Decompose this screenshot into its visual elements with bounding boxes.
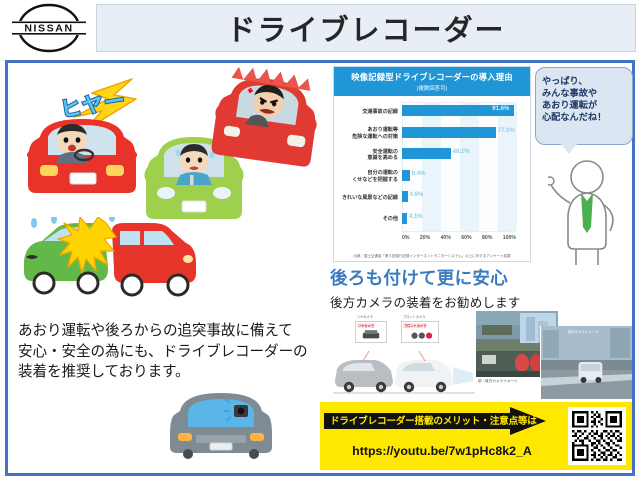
camera-mounting-diagram: リヤカメラ リヤカメラ フロントカメラ フロントカメラ xyxy=(333,311,475,399)
bar-label: 自分の運転の くせなどを把握する xyxy=(340,170,402,183)
qr-code[interactable] xyxy=(568,407,626,465)
red-car-surprised-driver xyxy=(26,111,138,201)
businessman-pointing-icon xyxy=(548,155,626,267)
front-camera-callout: フロントカメラ xyxy=(401,321,439,343)
bar-label: その他 xyxy=(340,216,402,222)
sub-heading-group: 後ろも付けて更に安心 後方カメラの装着をお勧めします xyxy=(330,265,630,311)
svg-text:NISSAN: NISSAN xyxy=(24,23,73,35)
chart-bar-row: あおり運転等 危険な運転への対策 77.0% xyxy=(340,124,524,144)
speech-bubble: やっぱり、 みんな事故や あおり運転が 心配なんだね！ xyxy=(535,67,633,145)
chart-title: 映像記録型ドライブレコーダーの導入理由 xyxy=(351,71,512,83)
illustration-group: ヒヤー xyxy=(14,65,332,315)
front-camera-photo-caption: 前・後方カメライメージ xyxy=(478,379,517,384)
rear-camera-photo xyxy=(540,326,632,399)
rear-camera-label: リヤカメラ xyxy=(357,314,373,319)
title-bar: ドライブレコーダー xyxy=(96,4,636,52)
chart-card: 映像記録型ドライブレコーダーの導入理由 (複数回答可) 交通事故の記録 91.6… xyxy=(333,66,531,262)
x-tick: 80% xyxy=(482,235,492,241)
main-panel: ヒヤー xyxy=(5,60,635,476)
rear-camera-tag: リヤカメラ xyxy=(357,323,375,328)
rear-camera-callout: リヤカメラ xyxy=(355,321,387,343)
sub-heading-main: 後ろも付けて更に安心 xyxy=(330,265,630,290)
x-tick: 20% xyxy=(420,235,430,241)
chart-bar-row: 安全運転の 意識を高める 40.1% xyxy=(340,145,524,165)
chart-x-axis: 0% 20% 40% 60% 80% 100% xyxy=(402,235,516,241)
youtube-banner[interactable]: ドライブレコーダー搭載のメリット・注意点等は https://youtu.be/… xyxy=(320,402,632,470)
red-car-angry-tailgater xyxy=(208,62,325,176)
bar-label: 安全運転の 意識を高める xyxy=(340,149,402,162)
chart-bar-row: 交通事故の記録 91.6% xyxy=(340,102,524,122)
speech-bubble-tail xyxy=(560,143,578,154)
bar-value: 4.1% xyxy=(409,214,423,220)
bar-label: きれいな風景などの記録 xyxy=(340,195,402,201)
chart-bar-row: きれいな風景などの記録 4.6% xyxy=(340,188,524,208)
footer-strip xyxy=(0,476,640,480)
car-with-dashcam-icon xyxy=(168,385,274,459)
chart-header: 映像記録型ドライブレコーダーの導入理由 (複数回答可) xyxy=(334,67,530,96)
nissan-logo: NISSAN xyxy=(8,3,90,53)
body-paragraph: あおり運転や後ろからの追突事故に備えて 安心・安全の為にも、ドライブレコーダーの… xyxy=(18,321,333,383)
rear-camera-photo-caption: 後方カメライメージ xyxy=(568,329,598,334)
chart-bar-row: 自分の運転の くせなどを把握する 6.4% xyxy=(340,167,524,187)
front-camera-tag: フロントカメラ xyxy=(403,323,427,328)
sub-heading-sub: 後方カメラの装着をお勧めします xyxy=(330,292,630,311)
x-tick: 100% xyxy=(503,235,516,241)
bar-value: 91.6% xyxy=(492,106,509,112)
banner-headline: ドライブレコーダー搭載のメリット・注意点等は xyxy=(330,413,530,427)
chart-source-note: 出典：国土交通省「第４回運行記録インターネットモニターシステム」の上に対するアン… xyxy=(338,254,526,259)
bar-value: 4.6% xyxy=(410,192,424,198)
bar-value: 40.1% xyxy=(453,149,470,155)
two-cars-side-view xyxy=(333,351,475,397)
bar-value: 6.4% xyxy=(412,171,426,177)
qr-code-image xyxy=(572,411,622,461)
chart-plot: 交通事故の記録 91.6% あおり運転等 危険な運転への対策 77.0% 安全運… xyxy=(334,96,530,246)
chart-bar-row: その他 4.1% xyxy=(340,210,524,230)
banner-url[interactable]: https://youtu.be/7w1pHc8k2_A xyxy=(332,444,552,458)
chart-subtitle: (複数回答可) xyxy=(417,84,448,92)
page-title: ドライブレコーダー xyxy=(226,7,505,49)
speech-bubble-text: やっぱり、 みんな事故や あおり運転が 心配なんだね！ xyxy=(542,75,626,124)
header: NISSAN ドライブレコーダー xyxy=(0,0,640,56)
rear-end-collision-scene xyxy=(20,217,200,313)
bar-label: 交通事故の記録 xyxy=(340,109,402,115)
bar-label: あおり運転等 危険な運転への対策 xyxy=(340,127,402,140)
x-tick: 40% xyxy=(441,235,451,241)
x-tick: 0% xyxy=(402,235,410,241)
poster-root: NISSAN ドライブレコーダー ヒヤー xyxy=(0,0,640,480)
front-camera-label: フロントカメラ xyxy=(403,314,425,319)
x-tick: 60% xyxy=(461,235,471,241)
bar-value: 77.0% xyxy=(498,128,515,134)
